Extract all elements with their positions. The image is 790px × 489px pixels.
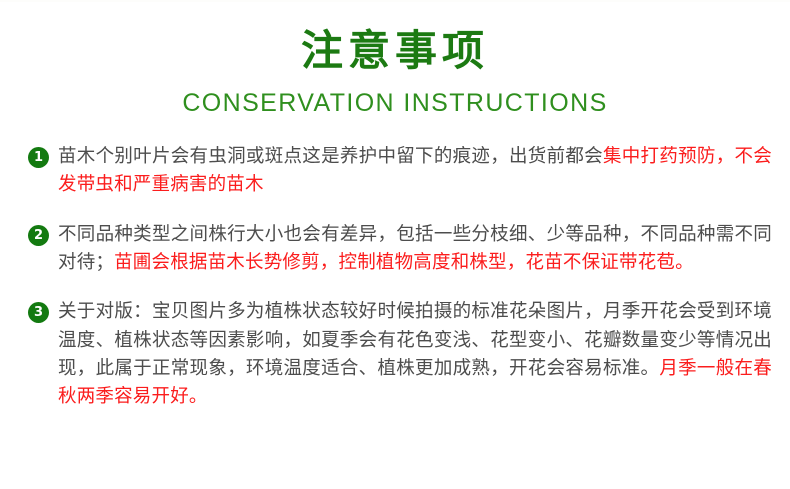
instruction-list: 1 苗木个别叶片会有虫洞或斑点这是养护中留下的痕迹，出货前都会集中打药预防，不会… bbox=[0, 143, 790, 411]
item-text: 不同品种类型之间株行大小也会有差异，包括一些分枝细、少等品种，不同品种需不同对待… bbox=[58, 221, 772, 278]
conservation-instructions-page: 注意事项 CONSERVATION INSTRUCTIONS 1 苗木个别叶片会… bbox=[0, 0, 790, 489]
list-item: 1 苗木个别叶片会有虫洞或斑点这是养护中留下的痕迹，出货前都会集中打药预防，不会… bbox=[0, 143, 790, 200]
top-hairline bbox=[0, 0, 790, 2]
page-header: 注意事项 CONSERVATION INSTRUCTIONS bbox=[0, 0, 790, 117]
page-subtitle: CONSERVATION INSTRUCTIONS bbox=[0, 90, 790, 118]
item-text-normal: 苗木个别叶片会有虫洞或斑点这是养护中留下的痕迹，出货前都会 bbox=[58, 146, 603, 167]
item-number-badge: 2 bbox=[28, 225, 49, 246]
item-number-badge: 3 bbox=[28, 302, 49, 323]
item-number-badge: 1 bbox=[28, 147, 49, 168]
list-item: 2 不同品种类型之间株行大小也会有差异，包括一些分枝细、少等品种，不同品种需不同… bbox=[0, 221, 790, 278]
item-text-highlight: 苗圃会根据苗木长势修剪，控制植物高度和株型，花苗不保证带花苞。 bbox=[114, 252, 694, 273]
list-item: 3 关于对版：宝贝图片多为植株状态较好时候拍摄的标准花朵图片，月季开花会受到环境… bbox=[0, 298, 790, 411]
item-text: 苗木个别叶片会有虫洞或斑点这是养护中留下的痕迹，出货前都会集中打药预防，不会发带… bbox=[58, 143, 772, 200]
page-title: 注意事项 bbox=[0, 26, 790, 76]
item-text: 关于对版：宝贝图片多为植株状态较好时候拍摄的标准花朵图片，月季开花会受到环境温度… bbox=[58, 298, 772, 411]
